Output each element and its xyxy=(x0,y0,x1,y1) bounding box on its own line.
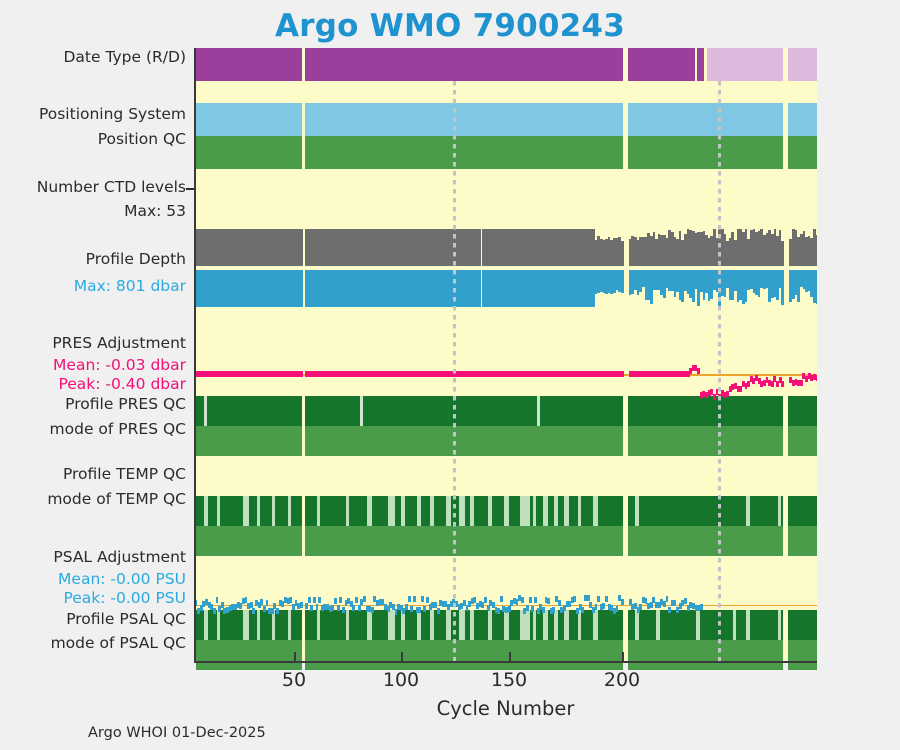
band-positioning-system xyxy=(196,103,817,136)
band-profile-psal-qc xyxy=(196,610,817,640)
row-label-pres-peak: Peak: -0.40 dbar xyxy=(58,376,186,392)
row-label-mode-temp-qc: mode of TEMP QC xyxy=(47,491,186,507)
band-mode-pres-qc xyxy=(196,426,817,456)
row-label-date-type: Date Type (R/D) xyxy=(63,49,186,65)
x-tick-label-150: 150 xyxy=(491,669,527,691)
series-pres-adjustment xyxy=(196,338,817,404)
row-label-position-qc: Position QC xyxy=(98,131,186,147)
row-label-profile-depth: Profile Depth xyxy=(86,251,186,267)
row-label-psal-mean: Mean: -0.00 PSU xyxy=(58,571,186,587)
footer-credit: Argo WHOI 01-Dec-2025 xyxy=(88,725,266,741)
row-label-depth-max: Max: 801 dbar xyxy=(74,278,186,294)
row-label-profile-temp-qc: Profile TEMP QC xyxy=(63,466,186,482)
row-label-ctd-max: Max: 53 xyxy=(124,203,186,219)
row-label-mode-pres-qc: mode of PRES QC xyxy=(50,421,186,437)
page-title: Argo WMO 7900243 xyxy=(0,8,900,44)
x-tick-150 xyxy=(509,652,511,661)
row-label-pres-mean: Mean: -0.03 dbar xyxy=(53,357,186,373)
x-tick-label-100: 100 xyxy=(383,669,419,691)
row-label-profile-pres-qc: Profile PRES QC xyxy=(65,396,186,412)
x-axis-line xyxy=(194,661,817,663)
row-label-pres-adj: PRES Adjustment xyxy=(52,335,186,351)
band-profile-pres-qc xyxy=(196,396,817,426)
band-mode-temp-qc xyxy=(196,526,817,556)
band-profile-temp-qc xyxy=(196,496,817,526)
x-tick-50 xyxy=(294,652,296,661)
x-tick-label-50: 50 xyxy=(282,669,306,691)
bars-ctd-levels xyxy=(196,208,817,266)
x-tick-200 xyxy=(622,652,624,661)
row-label-psal-adj: PSAL Adjustment xyxy=(53,549,186,565)
row-label-mode-psal-qc: mode of PSAL QC xyxy=(51,635,186,651)
year-gridline-1 xyxy=(453,81,456,661)
x-tick-label-200: 200 xyxy=(604,669,640,691)
row-label-psal-peak: Peak: -0.00 PSU xyxy=(63,590,186,606)
x-axis-label: Cycle Number xyxy=(194,697,817,720)
x-tick-100 xyxy=(401,652,403,661)
psal-zero-line xyxy=(196,605,817,607)
band-date-type xyxy=(196,48,817,81)
band-mode-psal-qc xyxy=(196,640,817,670)
row-label-positioning: Positioning System xyxy=(39,106,186,122)
row-label-profile-psal-qc: Profile PSAL QC xyxy=(66,611,186,627)
row-label-ctd-levels: Number CTD levels xyxy=(37,179,186,195)
plot-area xyxy=(194,48,817,661)
ctd-axis-tick xyxy=(186,188,194,190)
bars-profile-depth xyxy=(196,270,817,330)
year-gridline-2 xyxy=(718,81,721,661)
band-position-qc xyxy=(196,136,817,169)
